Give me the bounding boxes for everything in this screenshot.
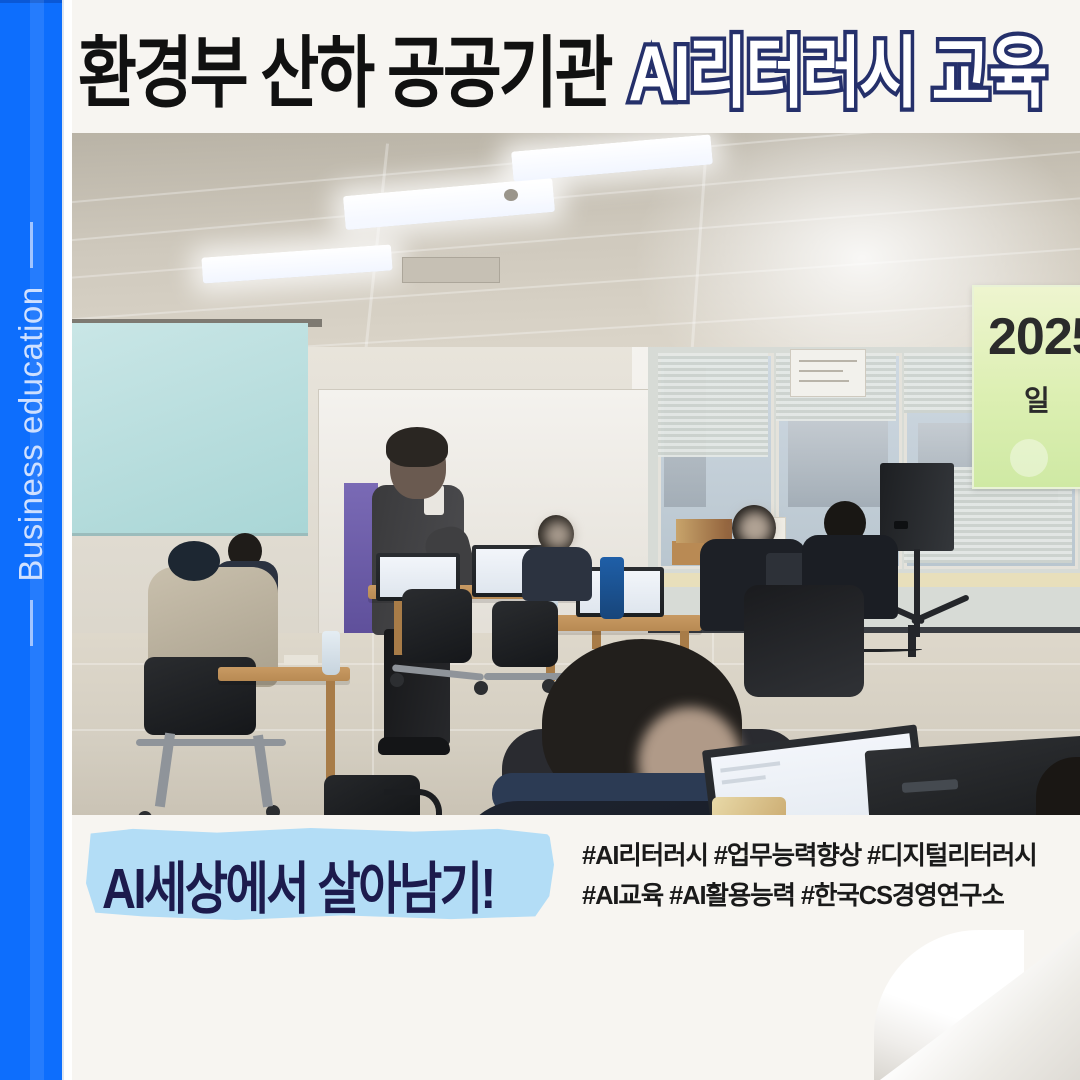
- sidebar-label-group: Business education: [0, 149, 62, 719]
- promo-card: Business education 환경부 산하 공공기관 AI리터러시 교육: [0, 0, 1080, 1080]
- hashtag-line-1: #AI리터러시 #업무능력향상 #디지털리터러시: [582, 836, 1052, 876]
- page-title: 환경부 산하 공공기관 AI리터러시 교육: [78, 14, 1068, 120]
- chair-caster: [474, 681, 488, 695]
- blurred-face: [544, 521, 572, 549]
- rail-dash-left: [30, 600, 33, 646]
- blue-bottle: [600, 557, 624, 619]
- papers-on-desk: [284, 655, 318, 665]
- rail-dash-right: [30, 222, 33, 268]
- poster-line2: 일: [1024, 379, 1050, 419]
- attendee-head: [168, 541, 220, 581]
- projection-screen: [72, 323, 308, 536]
- green-poster: 2025 일: [972, 285, 1080, 489]
- hashtag-line-2: #AI교육 #AI활용능력 #한국CS경영연구소: [582, 876, 1052, 916]
- instructor-shoe: [378, 737, 450, 755]
- poster-year: 2025: [988, 307, 1080, 367]
- chair: [492, 601, 558, 667]
- rail-edge-line: [62, 0, 64, 1080]
- classroom-training-photo: 2025 일: [72, 133, 1080, 815]
- title-plain: 환경부 산하 공공기관: [78, 11, 610, 123]
- hashtag-block: #AI리터러시 #업무능력향상 #디지털리터러시 #AI교육 #AI활용능력 #…: [582, 836, 1052, 916]
- attendee-body: [522, 547, 592, 601]
- chair-caster: [390, 673, 404, 687]
- wall-sign: [790, 349, 866, 397]
- footer: ent Lab 한국CS경영연구소 Korea Customer Satisfa…: [72, 945, 1080, 1080]
- sidebar-label: Business education: [12, 286, 50, 581]
- instructor-hair: [386, 427, 448, 467]
- title-outline: AI리터러시 교육: [628, 11, 1045, 123]
- water-bottle: [322, 631, 340, 675]
- sidebar-rail: Business education: [0, 0, 62, 1080]
- speaker-leg-center: [908, 625, 916, 657]
- jacket-on-chair: [744, 585, 864, 697]
- caption-headline: AI세상에서 살아남기!: [102, 842, 552, 925]
- poster-seal: [1010, 439, 1048, 477]
- caption-highlight-block: AI세상에서 살아남기!: [86, 828, 556, 920]
- chair: [402, 589, 472, 663]
- snack: [712, 797, 786, 815]
